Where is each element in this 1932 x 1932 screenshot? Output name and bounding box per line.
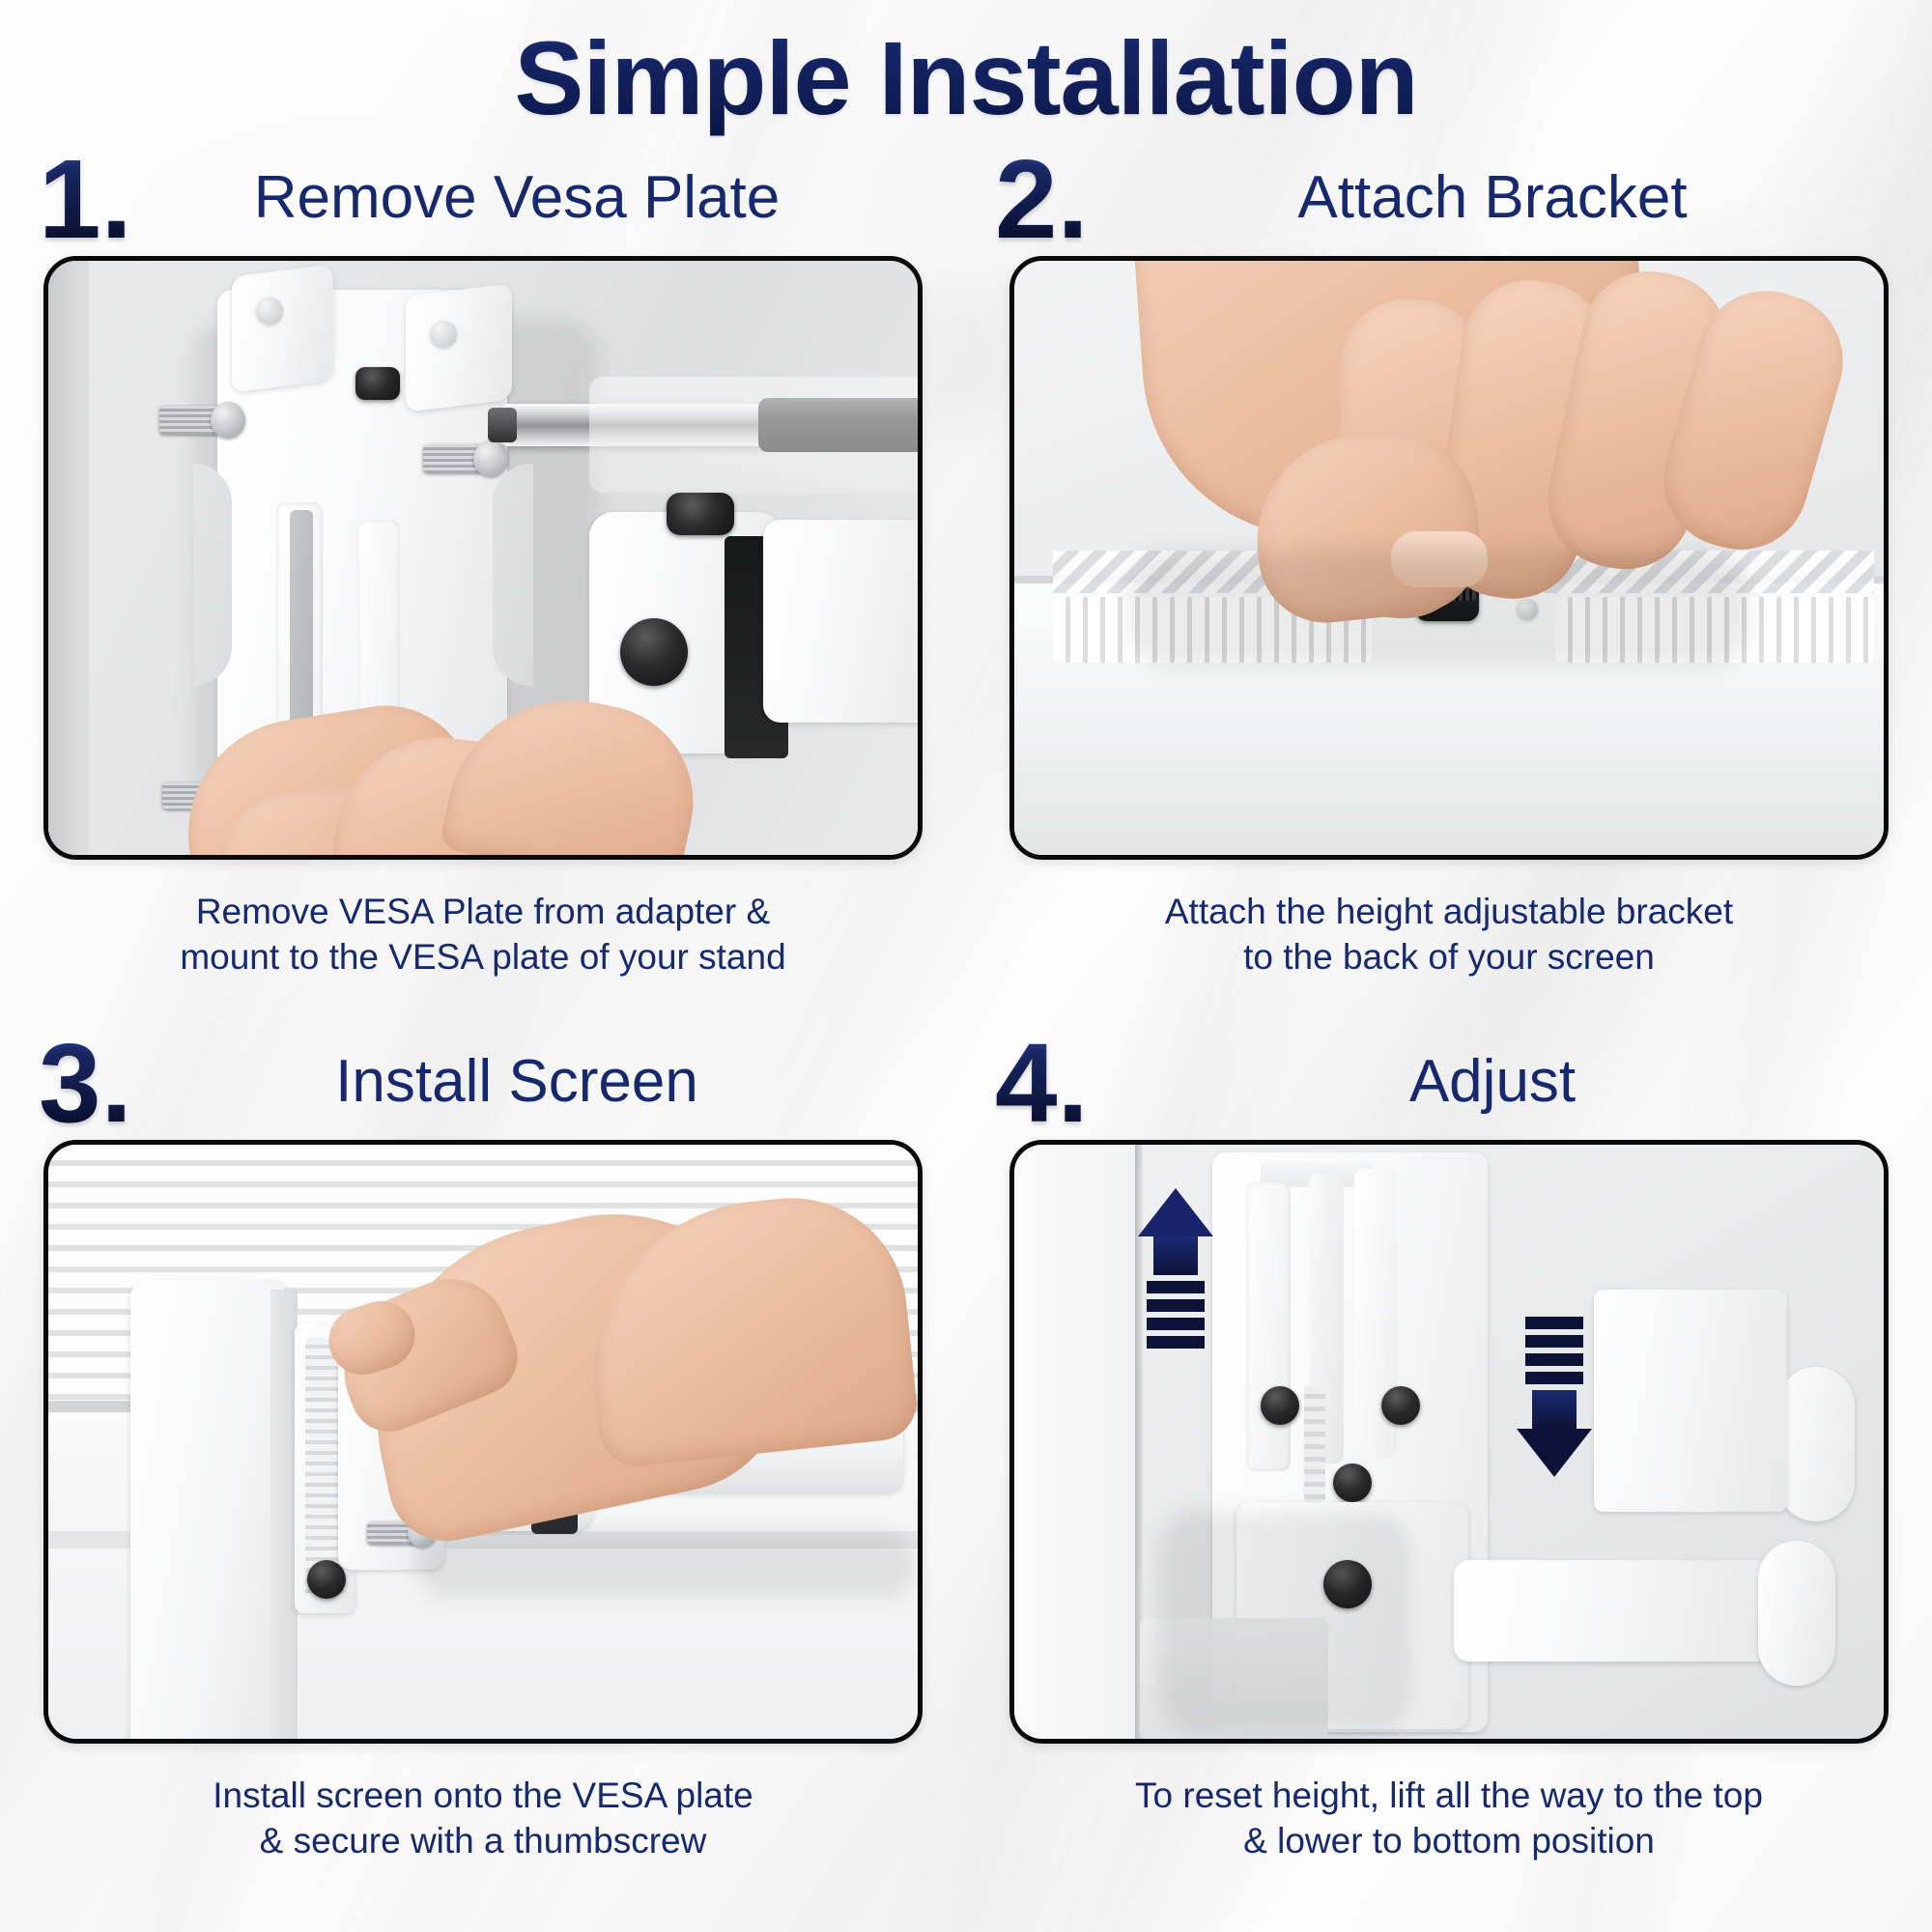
step-3-caption-line-1: Install screen onto the VESA plate — [0, 1773, 966, 1818]
step-card-4: 4. Adjust — [966, 1038, 1932, 1927]
step-1-photo — [43, 256, 923, 860]
step-1-header: 1. Remove Vesa Plate — [0, 155, 966, 266]
step-3-header: 3. Install Screen — [0, 1038, 966, 1150]
photo-scene-install-screen — [48, 1145, 918, 1739]
step-4-photo — [1009, 1140, 1889, 1744]
infographic-page: Simple Installation 1. Remove Vesa Plate — [0, 0, 1932, 1932]
step-2-title: Attach Bracket — [966, 168, 1932, 228]
step-2-caption: Attach the height adjustable bracket to … — [966, 889, 1932, 980]
steps-grid: 1. Remove Vesa Plate — [0, 0, 1932, 1932]
arrow-up-icon — [1138, 1188, 1213, 1349]
step-3-caption-line-2: & secure with a thumbscrew — [0, 1818, 966, 1863]
photo-scene-remove-vesa-plate — [48, 261, 918, 855]
step-3-title: Install Screen — [0, 1052, 966, 1112]
photo-scene-attach-bracket — [1014, 261, 1884, 855]
step-1-title: Remove Vesa Plate — [0, 168, 966, 228]
step-1-caption: Remove VESA Plate from adapter & mount t… — [0, 889, 966, 980]
photo-scene-adjust — [1014, 1145, 1884, 1739]
step-card-3: 3. Install Screen — [0, 1038, 966, 1927]
step-4-caption-line-2: & lower to bottom position — [966, 1818, 1932, 1863]
arrow-down-icon — [1517, 1317, 1592, 1477]
step-4-caption: To reset height, lift all the way to the… — [966, 1773, 1932, 1864]
step-2-photo — [1009, 256, 1889, 860]
step-4-title: Adjust — [966, 1052, 1932, 1112]
step-1-caption-line-1: Remove VESA Plate from adapter & — [0, 889, 966, 934]
step-1-caption-line-2: mount to the VESA plate of your stand — [0, 934, 966, 980]
step-2-caption-line-1: Attach the height adjustable bracket — [966, 889, 1932, 934]
step-card-1: 1. Remove Vesa Plate — [0, 155, 966, 1043]
step-2-caption-line-2: to the back of your screen — [966, 934, 1932, 980]
step-3-photo — [43, 1140, 923, 1744]
step-2-header: 2. Attach Bracket — [966, 155, 1932, 266]
step-4-header: 4. Adjust — [966, 1038, 1932, 1150]
step-card-2: 2. Attach Bracket — [966, 155, 1932, 1043]
step-3-caption: Install screen onto the VESA plate & sec… — [0, 1773, 966, 1864]
step-4-caption-line-1: To reset height, lift all the way to the… — [966, 1773, 1932, 1818]
